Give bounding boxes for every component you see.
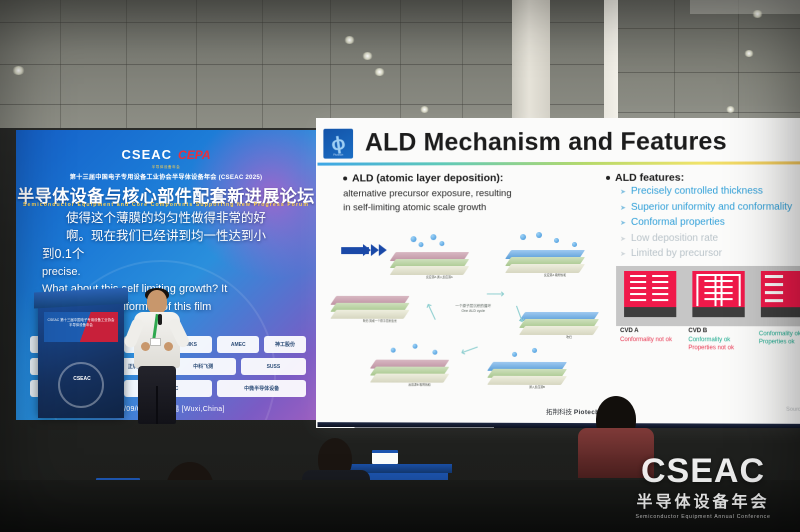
cvd-b-caption: CVD B Conformality ok Properties not ok bbox=[688, 328, 734, 352]
precursor-molecule-icon bbox=[536, 232, 542, 238]
ald-stage-2-saturated: 反应源A 吸附饱和 bbox=[508, 250, 582, 284]
slide-right-column: ALD features: ➤Precisely controlled thic… bbox=[606, 171, 800, 261]
projected-slide: ɸ Piotech ALD Mechanism and Features ALD… bbox=[316, 118, 800, 428]
cvd-a-note-1: Conformality not ok bbox=[620, 336, 672, 344]
ald-caption: Conformality ok Properties ok bbox=[759, 328, 800, 346]
slide-footer-cn: 拓荆科技 bbox=[546, 409, 572, 416]
bullet-dot-icon bbox=[343, 177, 347, 181]
cycle-arrow-icon: ⟶ bbox=[486, 286, 505, 302]
cepa-wordmark: CEPA bbox=[178, 148, 210, 162]
precursor-molecule-icon bbox=[512, 352, 517, 357]
sponsor-logo: 中微半导体设备 bbox=[217, 380, 306, 397]
subtitle-en-line-1: precise. bbox=[26, 265, 306, 280]
ald-definition-heading: ALD (atomic layer deposition): bbox=[343, 172, 582, 185]
precursor-molecule-icon bbox=[532, 348, 537, 353]
ceiling-light-slot bbox=[690, 0, 800, 14]
piotech-logo-label: Piotech bbox=[323, 153, 353, 157]
podium-org-text: CSEAC 第十三届中国电子专用设备工业协会半导体设备年会 bbox=[46, 318, 116, 328]
precursor-molecule-icon bbox=[439, 241, 444, 246]
ald-definition-line-2: in self-limiting atomic scale growth bbox=[343, 201, 582, 215]
podium-logo: CSEAC bbox=[62, 376, 102, 382]
ald-stage-5-caption: 反应源B 吸附饱和 bbox=[377, 384, 462, 388]
precursor-molecule-icon bbox=[554, 238, 559, 243]
sponsor-logo: AMEC bbox=[217, 336, 259, 353]
arrow-bullet-icon: ➤ bbox=[620, 220, 626, 227]
piotech-logo-icon: ɸ Piotech bbox=[323, 129, 353, 159]
cvd-b-note-2: Properties not ok bbox=[688, 344, 734, 352]
ceiling-spotlight bbox=[362, 52, 373, 60]
presenter-badge bbox=[150, 338, 161, 346]
ceiling-spotlight bbox=[744, 50, 754, 57]
byproduct-molecule-icon bbox=[391, 348, 396, 353]
arrow-bullet-icon: ➤ bbox=[620, 204, 626, 211]
feature-item-2: ➤Superior uniformity and conformality bbox=[620, 199, 800, 215]
byproduct-molecule-icon bbox=[413, 344, 418, 349]
handheld-microphone bbox=[158, 314, 162, 325]
ald-cycle-diagram: 反应源A 通入反应源A 反应源A 吸附饱和 吹扫 通入反应源B bbox=[341, 230, 610, 402]
cvd-a-illustration bbox=[624, 271, 676, 317]
panel-nameplate bbox=[372, 450, 398, 464]
ceiling-spotlight bbox=[726, 106, 735, 113]
presenter-hand-left bbox=[141, 342, 150, 351]
ald-stage-6-caption: 吹扫 完成一个原子层的生长 bbox=[337, 320, 422, 324]
byproduct-molecule-icon bbox=[432, 350, 437, 355]
presenter-head bbox=[147, 290, 167, 314]
precursor-molecule-icon bbox=[411, 236, 417, 242]
title-gradient-rule bbox=[317, 161, 800, 165]
subtitle-cn-line-2: 啊。现在我们已经讲到均一性达到小 bbox=[26, 228, 306, 246]
ald-stage-2-caption: 反应源A 吸附饱和 bbox=[512, 274, 598, 278]
ald-note-1: Conformality ok bbox=[759, 330, 800, 338]
wall-pillar-edge bbox=[604, 0, 618, 132]
feature-item-1-label: Precisely controlled thickness bbox=[631, 186, 763, 197]
subtitle-cn-line-3: 到0.1个 bbox=[26, 246, 306, 264]
cseac-brand-mark: CSEACCEPA 半导体设备年会 bbox=[16, 146, 316, 170]
bullet-dot-icon bbox=[606, 176, 610, 180]
cvd-b-illustration bbox=[692, 271, 744, 317]
presenter-figure bbox=[128, 290, 186, 424]
presenter-leg-split bbox=[156, 386, 158, 424]
arrow-bullet-icon: ➤ bbox=[620, 189, 626, 196]
slide-bottom-edge bbox=[317, 422, 800, 428]
podium-org-line-1: CSEAC bbox=[48, 318, 60, 322]
ald-stage-1-substrate: 反应源A 通入反应源A bbox=[393, 252, 467, 286]
ald-stage-1-caption: 反应源A 通入反应源A bbox=[397, 276, 482, 280]
feature-item-3: ➤Conformal properties bbox=[620, 215, 800, 231]
cseac-wordmark: CSEAC bbox=[122, 147, 173, 162]
slide-source-label: Source: bbox=[786, 407, 800, 413]
ald-definition-line-1: alternative precursor exposure, resultin… bbox=[343, 187, 582, 201]
ald-cycle-center-en: One ALD cycle bbox=[461, 309, 485, 313]
sponsor-logo: 神工股份 bbox=[264, 336, 306, 353]
ald-note-2: Properties ok bbox=[759, 338, 800, 346]
arrow-bullet-icon: ➤ bbox=[620, 251, 626, 258]
precursor-molecule-icon bbox=[430, 234, 436, 240]
ald-cycle-center-label: 一个原子层沉积的循环 One ALD cycle bbox=[428, 304, 518, 315]
feature-item-5: ➤Limited by precursor bbox=[620, 246, 800, 262]
venue-wall-right bbox=[618, 0, 800, 132]
ceiling-spotlight bbox=[12, 66, 25, 75]
feature-item-2-label: Superior uniformity and conformality bbox=[631, 201, 792, 212]
slide-title: ALD Mechanism and Features bbox=[365, 127, 800, 157]
podium-ring-decoration bbox=[58, 362, 104, 408]
cvd-b-name: CVD B bbox=[688, 328, 734, 334]
ald-illustration bbox=[761, 271, 800, 317]
feature-item-4-label: Low deposition rate bbox=[631, 232, 718, 243]
precursor-molecule-icon bbox=[572, 242, 577, 247]
piotech-glyph: ɸ bbox=[330, 133, 347, 154]
arrow-bullet-icon: ➤ bbox=[620, 235, 626, 242]
cvd-comparison-block: CVD A Conformality not ok CVD B Conforma… bbox=[616, 266, 800, 363]
subtitle-cn-line-1: 使得这个薄膜的均匀性做得非常的好 bbox=[26, 210, 306, 228]
ald-stage-5-reacted: 反应源B 吸附饱和 bbox=[373, 360, 446, 394]
ceiling-spotlight bbox=[752, 10, 763, 18]
feature-item-3-label: Conformal properties bbox=[631, 217, 725, 228]
conference-photo-scene: CSEACCEPA 半导体设备年会 第十三届中国电子专用设备工业协会半导体设备年… bbox=[0, 0, 800, 532]
ald-cycle-center-cn: 一个原子层沉积的循环 bbox=[455, 304, 491, 308]
ceiling-spotlight bbox=[374, 68, 385, 76]
precursor-molecule-icon bbox=[419, 242, 424, 247]
conference-banner-line: 第十三届中国电子专用设备工业协会半导体设备年会 (CSEAC 2025) bbox=[16, 172, 316, 181]
cvd-a-caption: CVD A Conformality not ok bbox=[620, 328, 672, 344]
watermark-line-1: CSEAC bbox=[620, 455, 786, 487]
feature-item-5-label: Limited by precursor bbox=[631, 248, 722, 259]
cseac-watermark: CSEAC 半导体设备年会 Semiconductor Equipment An… bbox=[620, 455, 786, 520]
watermark-line-2: 半导体设备年会 bbox=[620, 488, 786, 512]
cvd-a-name: CVD A bbox=[620, 328, 672, 334]
feature-item-1: ➤Precisely controlled thickness bbox=[620, 183, 800, 199]
cvd-b-note-1: Conformality ok bbox=[688, 336, 734, 344]
presenter-hand-right bbox=[164, 342, 173, 351]
cseac-wordmark-sub: 半导体设备年会 bbox=[16, 165, 316, 170]
ald-stage-4-precursor-b: 通入反应源B bbox=[490, 362, 564, 396]
slide-left-column: ALD (atomic layer deposition): alternati… bbox=[343, 172, 582, 215]
cycle-arrow-icon: ⟶ bbox=[458, 339, 481, 360]
podium-org-line-2: 第十三届中国电子专用设备工业协会半导体设备年会 bbox=[60, 318, 114, 327]
ald-stage-3-caption: 吹扫 bbox=[526, 336, 612, 340]
watermark-line-3: Semiconductor Equipment Annual Conferenc… bbox=[620, 514, 786, 520]
ald-stage-4-caption: 通入反应源B bbox=[494, 386, 580, 390]
ald-stage-6-complete: 吹扫 完成一个原子层的生长 bbox=[333, 296, 406, 330]
process-direction-arrow-icon bbox=[341, 244, 387, 256]
ceiling-spotlight bbox=[420, 106, 429, 113]
wall-pillar bbox=[512, 0, 550, 132]
slide-footer: 拓荆科技 Piotech bbox=[546, 406, 599, 416]
forum-title-en: Semiconductor Equipment and Core Compone… bbox=[16, 202, 316, 208]
ceiling-spotlight bbox=[344, 36, 355, 44]
sponsor-logo: SUSS bbox=[241, 358, 306, 375]
ald-features-heading: ALD features: bbox=[606, 171, 800, 184]
speaker-podium: CSEAC 第十三届中国电子专用设备工业协会半导体设备年会 CSEAC bbox=[38, 300, 124, 418]
ald-features-heading-text: ALD features: bbox=[615, 172, 684, 184]
precursor-molecule-icon bbox=[520, 234, 526, 240]
ald-stage-3-purge: 吹扫 bbox=[522, 312, 596, 346]
feature-item-4: ➤Low deposition rate bbox=[620, 230, 800, 246]
ald-definition-heading-text: ALD (atomic layer deposition): bbox=[352, 172, 503, 184]
